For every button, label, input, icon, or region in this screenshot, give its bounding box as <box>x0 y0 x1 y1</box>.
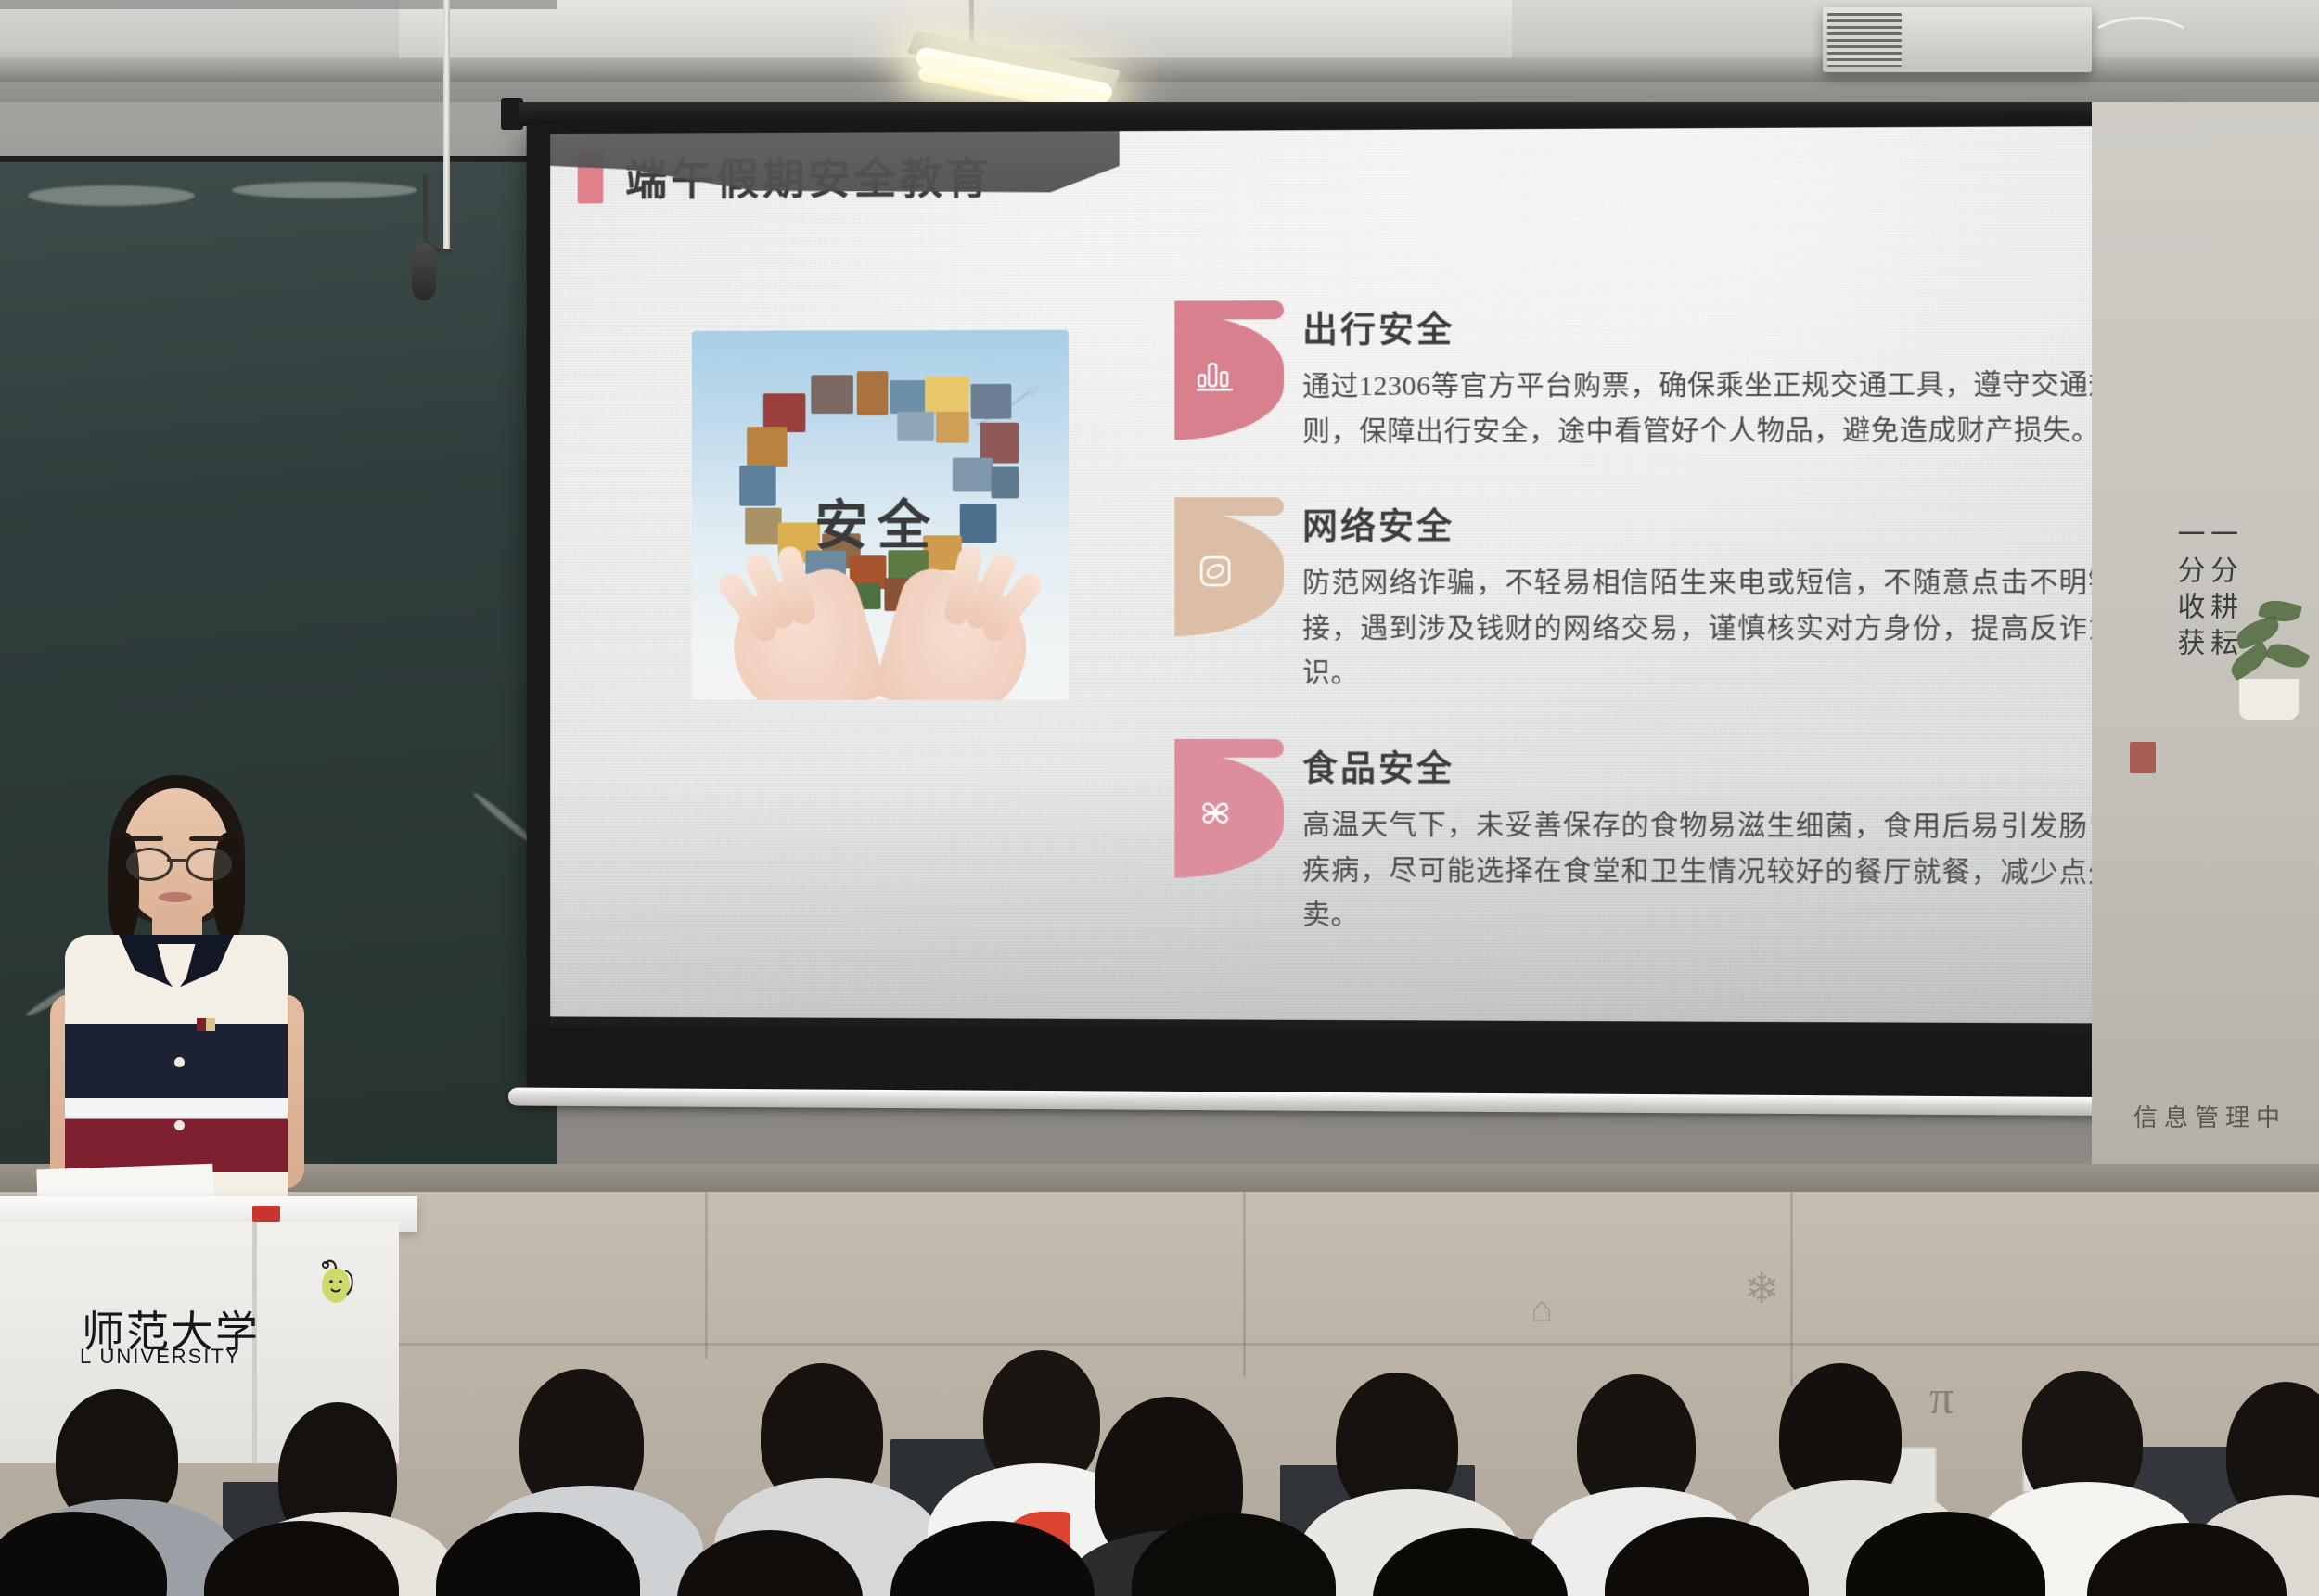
chalk-smudge <box>28 185 195 206</box>
section-body: 高温天气下，未妥善保存的食物易滋生细菌，食用后易引发肠胃疾病，尽可能选择在食堂和… <box>1302 803 2117 941</box>
wall-sign: 信息管理中 <box>2133 1099 2287 1133</box>
presenter <box>37 779 315 1224</box>
slide-sections: 出行安全 通过12306等官方平台购票，确保乘坐正规交通工具，遵守交通规则，保障… <box>1174 285 2117 984</box>
section-travel-safety: 出行安全 通过12306等官方平台购票，确保乘坐正规交通工具，遵守交通规则，保障… <box>1174 298 2117 454</box>
glasses-icon <box>126 848 226 875</box>
section-flag <box>1174 497 1284 636</box>
classroom-photo: 端午假期安全教育 <box>0 0 2319 1596</box>
wall-ledge <box>0 1164 2319 1192</box>
projector-vent-grille <box>1827 13 1902 67</box>
glasses-lens-left <box>126 848 173 881</box>
slide-content: 端午假期安全教育 <box>550 126 2157 1024</box>
section-heading: 网络安全 <box>1302 496 2117 548</box>
section-heading: 食品安全 <box>1302 739 2117 792</box>
section-body: 防范网络诈骗，不轻易相信陌生来电或短信，不随意点击不明链接，遇到涉及钱财的网络交… <box>1302 561 2117 697</box>
glasses-lens-right <box>186 848 232 881</box>
illustration-caption: 安全 <box>814 482 940 560</box>
slide-illustration: 安全 <box>692 330 1069 700</box>
eyebrow-left <box>130 836 163 841</box>
four-petal-clover-icon <box>1195 793 1236 834</box>
potted-plant <box>2224 594 2319 770</box>
presenter-badge <box>197 1018 215 1031</box>
projection-screen[interactable]: 端午假期安全教育 <box>527 117 2178 1099</box>
screen-border-bottom <box>527 1026 2178 1098</box>
section-flag <box>1174 739 1284 878</box>
chalk-smudge <box>232 182 417 198</box>
presenter-mouth <box>159 892 192 902</box>
projector-cable <box>2087 17 2195 67</box>
dress-button <box>174 1057 185 1067</box>
glasses-bridge <box>167 859 186 862</box>
audience <box>0 1233 2319 1596</box>
section-food-safety: 食品安全 高温天气下，未妥善保存的食物易滋生细菌，食用后易引发肠胃疾病，尽可能选… <box>1174 739 2117 941</box>
microphone-cable <box>423 174 452 253</box>
dress-button <box>174 1120 185 1130</box>
binder-clip-icon <box>252 1206 280 1222</box>
section-heading: 出行安全 <box>1302 298 2117 351</box>
blackboard-rail <box>0 0 557 9</box>
shield-square-icon <box>1195 551 1236 592</box>
red-seal-stamp <box>2130 742 2156 773</box>
microphone-icon <box>412 243 436 300</box>
screen-border-left <box>527 124 551 1091</box>
bar-chart-icon <box>1195 354 1236 395</box>
section-network-safety: 网络安全 防范网络诈骗，不轻易相信陌生来电或短信，不随意点击不明链接，遇到涉及钱… <box>1174 496 2117 696</box>
scroll-line-2: 一分收获 <box>2173 519 2203 825</box>
section-flag <box>1174 300 1284 440</box>
calligraphy-scroll: 一分耕耘 一分收获 <box>2120 519 2236 825</box>
section-body: 通过12306等官方平台购票，确保乘坐正规交通工具，遵守交通规则，保障出行安全，… <box>1302 363 2117 454</box>
eyebrow-right <box>189 836 223 841</box>
